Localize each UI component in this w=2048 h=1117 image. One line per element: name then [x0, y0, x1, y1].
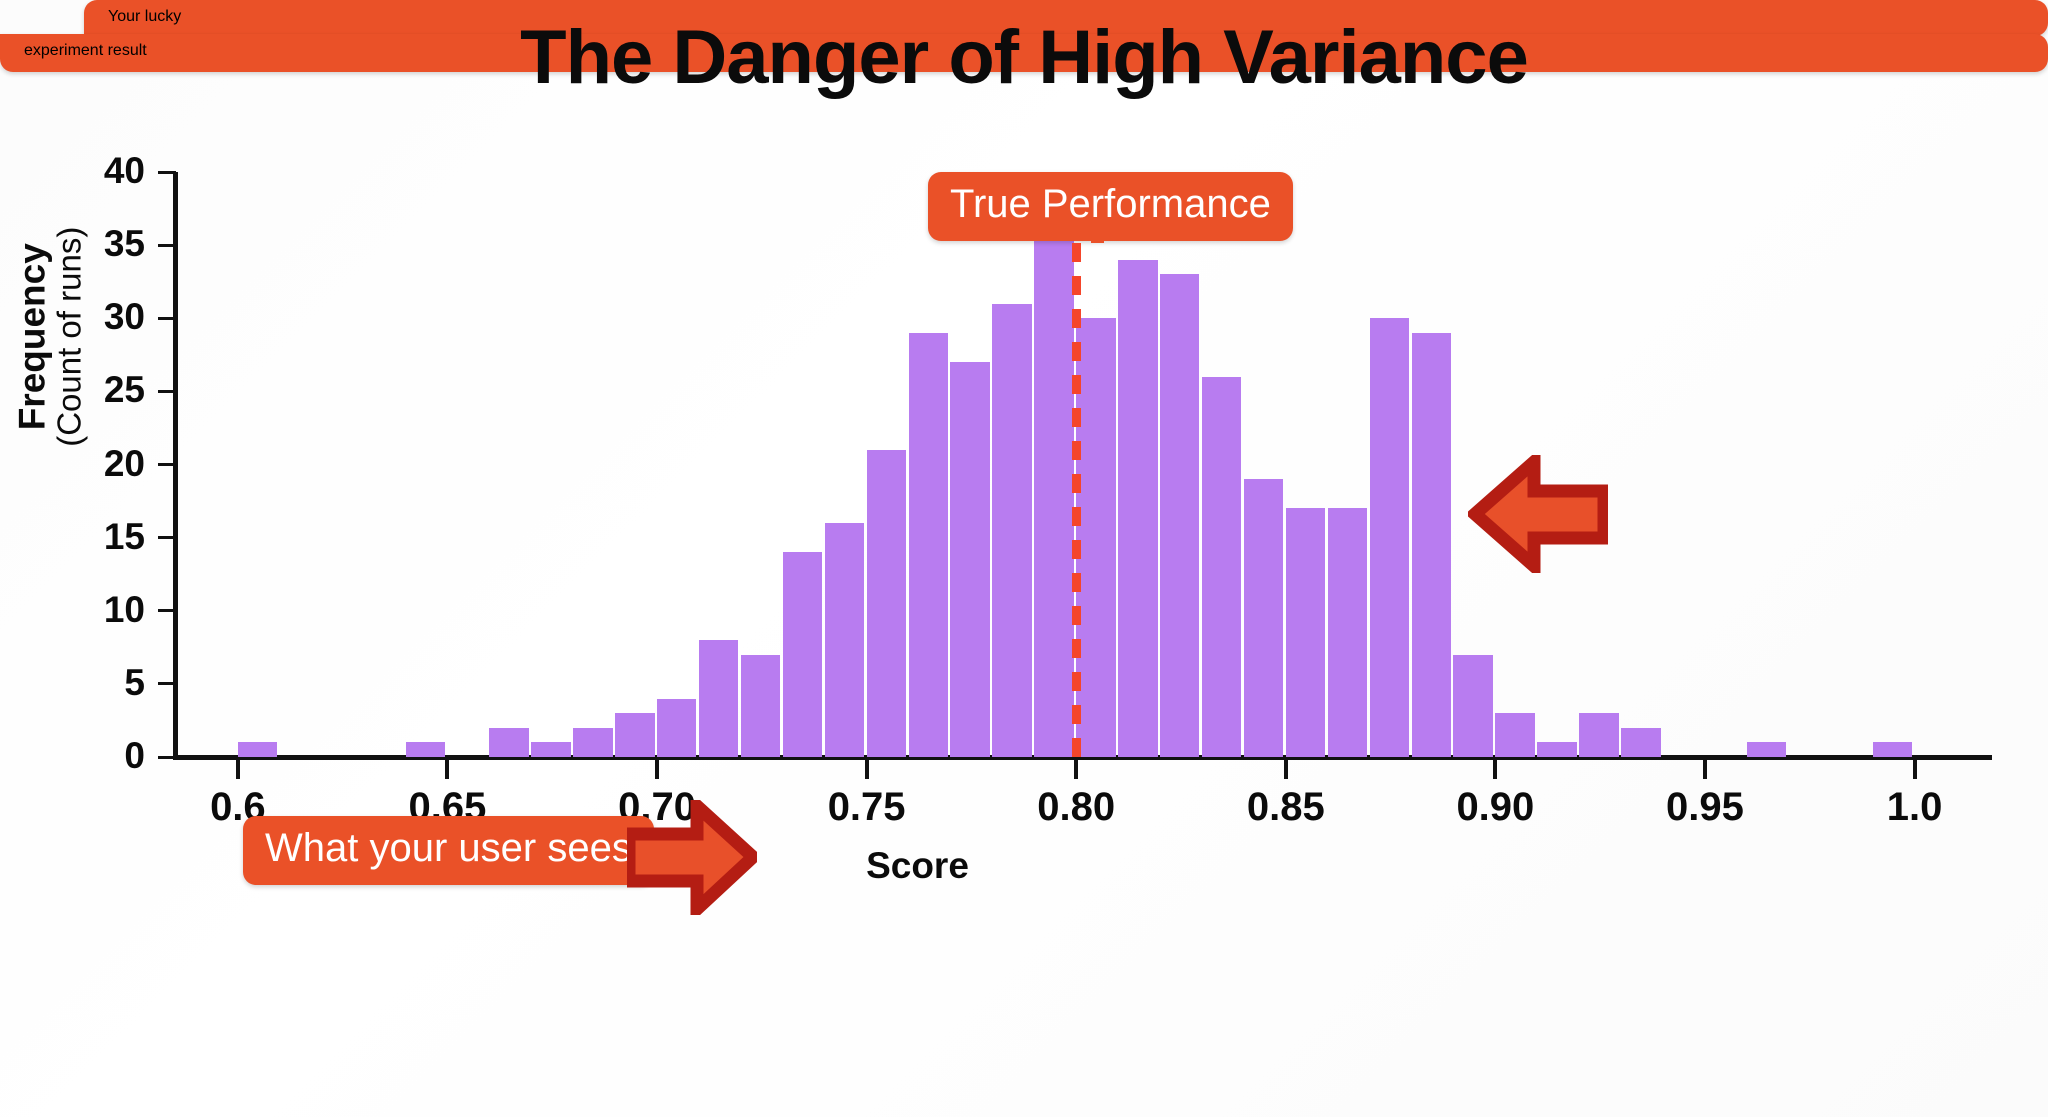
histogram-bar	[1621, 728, 1660, 757]
histogram-bar	[1873, 742, 1912, 757]
y-axis-tick	[158, 463, 176, 466]
histogram-bar	[657, 699, 696, 758]
histogram-bar	[573, 728, 612, 757]
x-axis-tick	[236, 760, 240, 779]
histogram-bar	[1579, 713, 1618, 757]
x-axis-tick	[1074, 760, 1078, 779]
histogram-bar	[741, 655, 780, 757]
arrow-right-icon	[627, 800, 757, 915]
arrow-left-icon	[1468, 455, 1608, 573]
y-axis-label-sub: (Count of runs)	[52, 127, 87, 547]
x-axis-tick	[445, 760, 449, 779]
y-axis-label: Frequency (Count of runs)	[13, 127, 86, 547]
histogram-bar	[1328, 508, 1367, 757]
histogram-bar	[1034, 201, 1073, 757]
histogram-bar	[699, 640, 738, 757]
y-axis-tick	[158, 609, 176, 612]
x-axis-tick	[865, 760, 869, 779]
histogram-bar	[1412, 333, 1451, 757]
x-axis-tick-label: 0.90	[1405, 785, 1585, 830]
histogram-bar	[489, 728, 528, 757]
histogram-bar	[531, 742, 570, 757]
x-axis-tick-label: 0.80	[986, 785, 1166, 830]
histogram-bar	[238, 742, 277, 757]
x-axis-tick	[1284, 760, 1288, 779]
y-axis-tick	[158, 390, 176, 393]
histogram-bar	[1495, 713, 1534, 757]
x-axis-tick-label: 1.0	[1825, 785, 2005, 830]
histogram-bar	[1076, 318, 1115, 757]
x-axis-tick-label: 0.85	[1196, 785, 1376, 830]
callout-true-performance-stem	[1091, 227, 1104, 243]
y-axis-tick	[158, 756, 176, 759]
histogram-bar	[1453, 655, 1492, 757]
y-axis-tick	[158, 317, 176, 320]
histogram-bar	[867, 450, 906, 757]
histogram-bar	[1370, 318, 1409, 757]
x-axis-tick	[1703, 760, 1707, 779]
y-axis-tick-label: 5	[65, 664, 145, 701]
page-title: The Danger of High Variance	[0, 14, 2048, 101]
histogram-bar	[909, 333, 948, 757]
histogram-bar	[1747, 742, 1786, 757]
y-axis-label-main: Frequency	[13, 127, 52, 547]
histogram-bar	[1286, 508, 1325, 757]
x-axis-tick	[1493, 760, 1497, 779]
x-axis-tick	[1913, 760, 1917, 779]
histogram-bar	[825, 523, 864, 757]
true-performance-vline	[1072, 243, 1081, 761]
callout-true-performance: True Performance	[928, 172, 1293, 241]
histogram-bar	[992, 304, 1031, 757]
histogram-bar	[1202, 377, 1241, 757]
y-axis-tick-label: 0	[65, 737, 145, 774]
y-axis-tick-label: 10	[65, 591, 145, 628]
y-axis-tick	[158, 536, 176, 539]
histogram-bar	[406, 742, 445, 757]
y-axis-tick	[158, 244, 176, 247]
x-axis-tick	[655, 760, 659, 779]
histogram-bar	[1244, 479, 1283, 757]
histogram-bar	[1537, 742, 1576, 757]
x-axis-tick-label: 0.95	[1615, 785, 1795, 830]
histogram-bar	[783, 552, 822, 757]
histogram-bar	[1160, 274, 1199, 757]
x-axis-tick-label: 0.75	[777, 785, 957, 830]
histogram-bar	[1118, 260, 1157, 757]
histogram-bar	[950, 362, 989, 757]
y-axis-tick	[158, 171, 176, 174]
histogram-bar	[615, 713, 654, 757]
callout-what-your-user-sees: What your user sees	[243, 816, 654, 885]
y-axis-tick	[158, 682, 176, 685]
histogram-plot	[175, 172, 1990, 757]
